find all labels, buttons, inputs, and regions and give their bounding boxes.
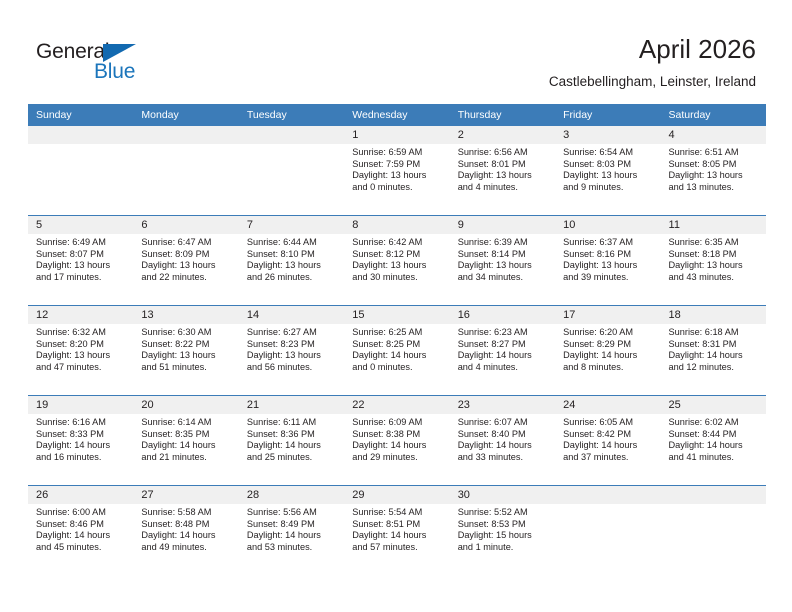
calendar-week-row: 19Sunrise: 6:16 AMSunset: 8:33 PMDayligh… — [28, 395, 766, 485]
sunrise-text: Sunrise: 6:00 AM — [36, 507, 125, 519]
daylight-text-line1: Daylight: 14 hours — [669, 440, 758, 452]
daylight-text-line1: Daylight: 15 hours — [458, 530, 547, 542]
daylight-text-line2: and 1 minute. — [458, 542, 547, 554]
sunrise-text: Sunrise: 6:20 AM — [563, 327, 652, 339]
calendar-weeks: 1Sunrise: 6:59 AMSunset: 7:59 PMDaylight… — [28, 126, 766, 575]
daylight-text-line2: and 0 minutes. — [352, 362, 441, 374]
calendar-week-row: 12Sunrise: 6:32 AMSunset: 8:20 PMDayligh… — [28, 305, 766, 395]
sunrise-text: Sunrise: 6:44 AM — [247, 237, 336, 249]
daylight-text-line1: Daylight: 14 hours — [563, 350, 652, 362]
sunrise-text: Sunrise: 6:32 AM — [36, 327, 125, 339]
sunset-text: Sunset: 8:38 PM — [352, 429, 441, 441]
calendar-day-cell[interactable]: 20Sunrise: 6:14 AMSunset: 8:35 PMDayligh… — [133, 396, 238, 485]
sunset-text: Sunset: 8:36 PM — [247, 429, 336, 441]
day-sun-info — [555, 504, 660, 575]
daylight-text-line1: Daylight: 13 hours — [36, 350, 125, 362]
day-sun-info: Sunrise: 6:42 AMSunset: 8:12 PMDaylight:… — [344, 234, 449, 305]
day-sun-info: Sunrise: 5:52 AMSunset: 8:53 PMDaylight:… — [450, 504, 555, 575]
calendar-week-cells: 5Sunrise: 6:49 AMSunset: 8:07 PMDaylight… — [28, 216, 766, 305]
day-number: 24 — [555, 396, 660, 414]
daylight-text-line2: and 29 minutes. — [352, 452, 441, 464]
calendar-day-cell[interactable]: 23Sunrise: 6:07 AMSunset: 8:40 PMDayligh… — [450, 396, 555, 485]
calendar-day-cell[interactable]: 15Sunrise: 6:25 AMSunset: 8:25 PMDayligh… — [344, 306, 449, 395]
calendar-week-row: 5Sunrise: 6:49 AMSunset: 8:07 PMDaylight… — [28, 215, 766, 305]
weekday-header-monday: Monday — [133, 104, 238, 126]
calendar-week-cells: 26Sunrise: 6:00 AMSunset: 8:46 PMDayligh… — [28, 486, 766, 575]
sunrise-text: Sunrise: 6:35 AM — [669, 237, 758, 249]
day-number: 19 — [28, 396, 133, 414]
day-number: 7 — [239, 216, 344, 234]
day-number: 15 — [344, 306, 449, 324]
daylight-text-line1: Daylight: 13 hours — [141, 350, 230, 362]
day-sun-info: Sunrise: 6:20 AMSunset: 8:29 PMDaylight:… — [555, 324, 660, 395]
general-blue-logo[interactable]: General Blue — [36, 40, 156, 84]
sunrise-text: Sunrise: 6:30 AM — [141, 327, 230, 339]
daylight-text-line1: Daylight: 13 hours — [247, 260, 336, 272]
sunrise-text: Sunrise: 5:54 AM — [352, 507, 441, 519]
daylight-text-line1: Daylight: 13 hours — [458, 170, 547, 182]
daylight-text-line2: and 49 minutes. — [141, 542, 230, 554]
sunrise-text: Sunrise: 6:54 AM — [563, 147, 652, 159]
daylight-text-line2: and 8 minutes. — [563, 362, 652, 374]
day-sun-info: Sunrise: 6:18 AMSunset: 8:31 PMDaylight:… — [661, 324, 766, 395]
day-number: 30 — [450, 486, 555, 504]
page-header: General Blue April 2026 Castlebellingham… — [0, 0, 792, 104]
day-sun-info: Sunrise: 6:07 AMSunset: 8:40 PMDaylight:… — [450, 414, 555, 485]
sunset-text: Sunset: 8:53 PM — [458, 519, 547, 531]
calendar-day-cell[interactable]: 16Sunrise: 6:23 AMSunset: 8:27 PMDayligh… — [450, 306, 555, 395]
day-number — [133, 126, 238, 144]
daylight-text-line2: and 34 minutes. — [458, 272, 547, 284]
day-number — [555, 486, 660, 504]
day-sun-info: Sunrise: 6:27 AMSunset: 8:23 PMDaylight:… — [239, 324, 344, 395]
day-number — [239, 126, 344, 144]
calendar-day-cell[interactable]: 19Sunrise: 6:16 AMSunset: 8:33 PMDayligh… — [28, 396, 133, 485]
sunset-text: Sunset: 8:29 PM — [563, 339, 652, 351]
sunrise-text: Sunrise: 6:47 AM — [141, 237, 230, 249]
daylight-text-line2: and 12 minutes. — [669, 362, 758, 374]
calendar-week-cells: 1Sunrise: 6:59 AMSunset: 7:59 PMDaylight… — [28, 126, 766, 215]
sunrise-text: Sunrise: 5:52 AM — [458, 507, 547, 519]
daylight-text-line1: Daylight: 13 hours — [563, 170, 652, 182]
sunrise-text: Sunrise: 6:37 AM — [563, 237, 652, 249]
calendar-day-cell[interactable]: 3Sunrise: 6:54 AMSunset: 8:03 PMDaylight… — [555, 126, 660, 215]
calendar-day-cell-empty — [661, 486, 766, 575]
daylight-text-line1: Daylight: 14 hours — [141, 530, 230, 542]
day-number: 1 — [344, 126, 449, 144]
sunrise-text: Sunrise: 5:58 AM — [141, 507, 230, 519]
daylight-text-line2: and 30 minutes. — [352, 272, 441, 284]
calendar-day-cell[interactable]: 6Sunrise: 6:47 AMSunset: 8:09 PMDaylight… — [133, 216, 238, 305]
day-sun-info — [661, 504, 766, 575]
sunset-text: Sunset: 8:25 PM — [352, 339, 441, 351]
calendar-page: General Blue April 2026 Castlebellingham… — [0, 0, 792, 612]
day-sun-info: Sunrise: 6:11 AMSunset: 8:36 PMDaylight:… — [239, 414, 344, 485]
daylight-text-line1: Daylight: 14 hours — [352, 350, 441, 362]
day-sun-info: Sunrise: 5:54 AMSunset: 8:51 PMDaylight:… — [344, 504, 449, 575]
daylight-text-line2: and 4 minutes. — [458, 182, 547, 194]
calendar-day-cell[interactable]: 12Sunrise: 6:32 AMSunset: 8:20 PMDayligh… — [28, 306, 133, 395]
day-number: 27 — [133, 486, 238, 504]
calendar-day-cell[interactable]: 1Sunrise: 6:59 AMSunset: 7:59 PMDaylight… — [344, 126, 449, 215]
day-sun-info: Sunrise: 6:16 AMSunset: 8:33 PMDaylight:… — [28, 414, 133, 485]
sunset-text: Sunset: 8:48 PM — [141, 519, 230, 531]
weekday-header-thursday: Thursday — [450, 104, 555, 126]
sunrise-text: Sunrise: 6:11 AM — [247, 417, 336, 429]
day-sun-info: Sunrise: 6:37 AMSunset: 8:16 PMDaylight:… — [555, 234, 660, 305]
daylight-text-line2: and 26 minutes. — [247, 272, 336, 284]
daylight-text-line1: Daylight: 13 hours — [669, 260, 758, 272]
day-sun-info — [239, 144, 344, 215]
day-sun-info: Sunrise: 6:51 AMSunset: 8:05 PMDaylight:… — [661, 144, 766, 215]
sunset-text: Sunset: 8:03 PM — [563, 159, 652, 171]
sunset-text: Sunset: 8:14 PM — [458, 249, 547, 261]
day-number: 21 — [239, 396, 344, 414]
sunset-text: Sunset: 8:09 PM — [141, 249, 230, 261]
sunset-text: Sunset: 8:18 PM — [669, 249, 758, 261]
day-sun-info — [28, 144, 133, 215]
sunrise-text: Sunrise: 6:14 AM — [141, 417, 230, 429]
calendar-day-cell[interactable]: 11Sunrise: 6:35 AMSunset: 8:18 PMDayligh… — [661, 216, 766, 305]
day-number: 6 — [133, 216, 238, 234]
sunrise-text: Sunrise: 6:09 AM — [352, 417, 441, 429]
weekday-header-saturday: Saturday — [661, 104, 766, 126]
daylight-text-line1: Daylight: 14 hours — [458, 350, 547, 362]
daylight-text-line2: and 21 minutes. — [141, 452, 230, 464]
daylight-text-line1: Daylight: 14 hours — [247, 530, 336, 542]
day-sun-info: Sunrise: 6:23 AMSunset: 8:27 PMDaylight:… — [450, 324, 555, 395]
sunset-text: Sunset: 8:10 PM — [247, 249, 336, 261]
sunrise-text: Sunrise: 6:05 AM — [563, 417, 652, 429]
day-number: 3 — [555, 126, 660, 144]
day-number: 2 — [450, 126, 555, 144]
calendar-day-cell[interactable]: 7Sunrise: 6:44 AMSunset: 8:10 PMDaylight… — [239, 216, 344, 305]
daylight-text-line2: and 53 minutes. — [247, 542, 336, 554]
day-number: 29 — [344, 486, 449, 504]
day-number: 23 — [450, 396, 555, 414]
day-number: 9 — [450, 216, 555, 234]
calendar-day-cell[interactable]: 30Sunrise: 5:52 AMSunset: 8:53 PMDayligh… — [450, 486, 555, 575]
calendar-day-cell[interactable]: 28Sunrise: 5:56 AMSunset: 8:49 PMDayligh… — [239, 486, 344, 575]
day-number: 8 — [344, 216, 449, 234]
day-number — [28, 126, 133, 144]
day-sun-info: Sunrise: 6:09 AMSunset: 8:38 PMDaylight:… — [344, 414, 449, 485]
calendar-week-cells: 12Sunrise: 6:32 AMSunset: 8:20 PMDayligh… — [28, 306, 766, 395]
daylight-text-line2: and 9 minutes. — [563, 182, 652, 194]
calendar-day-cell[interactable]: 4Sunrise: 6:51 AMSunset: 8:05 PMDaylight… — [661, 126, 766, 215]
sunrise-text: Sunrise: 6:51 AM — [669, 147, 758, 159]
daylight-text-line1: Daylight: 13 hours — [141, 260, 230, 272]
day-sun-info: Sunrise: 6:54 AMSunset: 8:03 PMDaylight:… — [555, 144, 660, 215]
daylight-text-line2: and 37 minutes. — [563, 452, 652, 464]
calendar-day-cell[interactable]: 8Sunrise: 6:42 AMSunset: 8:12 PMDaylight… — [344, 216, 449, 305]
sunrise-text: Sunrise: 6:59 AM — [352, 147, 441, 159]
daylight-text-line2: and 45 minutes. — [36, 542, 125, 554]
daylight-text-line1: Daylight: 14 hours — [247, 440, 336, 452]
calendar-day-cell[interactable]: 17Sunrise: 6:20 AMSunset: 8:29 PMDayligh… — [555, 306, 660, 395]
day-number — [661, 486, 766, 504]
daylight-text-line2: and 41 minutes. — [669, 452, 758, 464]
calendar-day-cell-empty — [133, 126, 238, 215]
calendar-day-cell[interactable]: 24Sunrise: 6:05 AMSunset: 8:42 PMDayligh… — [555, 396, 660, 485]
sunset-text: Sunset: 8:33 PM — [36, 429, 125, 441]
calendar-day-cell[interactable]: 27Sunrise: 5:58 AMSunset: 8:48 PMDayligh… — [133, 486, 238, 575]
sunset-text: Sunset: 8:16 PM — [563, 249, 652, 261]
daylight-text-line2: and 4 minutes. — [458, 362, 547, 374]
sunrise-text: Sunrise: 6:39 AM — [458, 237, 547, 249]
sunset-text: Sunset: 8:42 PM — [563, 429, 652, 441]
calendar-day-cell[interactable]: 5Sunrise: 6:49 AMSunset: 8:07 PMDaylight… — [28, 216, 133, 305]
calendar-day-cell[interactable]: 22Sunrise: 6:09 AMSunset: 8:38 PMDayligh… — [344, 396, 449, 485]
day-number: 4 — [661, 126, 766, 144]
daylight-text-line1: Daylight: 13 hours — [458, 260, 547, 272]
daylight-text-line1: Daylight: 13 hours — [352, 170, 441, 182]
daylight-text-line1: Daylight: 14 hours — [669, 350, 758, 362]
day-number: 14 — [239, 306, 344, 324]
sunrise-text: Sunrise: 6:56 AM — [458, 147, 547, 159]
day-number: 11 — [661, 216, 766, 234]
day-sun-info: Sunrise: 6:56 AMSunset: 8:01 PMDaylight:… — [450, 144, 555, 215]
sunset-text: Sunset: 8:01 PM — [458, 159, 547, 171]
calendar-day-cell[interactable]: 2Sunrise: 6:56 AMSunset: 8:01 PMDaylight… — [450, 126, 555, 215]
calendar-day-cell[interactable]: 18Sunrise: 6:18 AMSunset: 8:31 PMDayligh… — [661, 306, 766, 395]
day-number: 16 — [450, 306, 555, 324]
daylight-text-line2: and 56 minutes. — [247, 362, 336, 374]
day-sun-info: Sunrise: 6:30 AMSunset: 8:22 PMDaylight:… — [133, 324, 238, 395]
sunrise-text: Sunrise: 6:42 AM — [352, 237, 441, 249]
calendar-day-cell[interactable]: 25Sunrise: 6:02 AMSunset: 8:44 PMDayligh… — [661, 396, 766, 485]
day-sun-info — [133, 144, 238, 215]
day-sun-info: Sunrise: 6:14 AMSunset: 8:35 PMDaylight:… — [133, 414, 238, 485]
day-sun-info: Sunrise: 6:49 AMSunset: 8:07 PMDaylight:… — [28, 234, 133, 305]
calendar-week-row: 1Sunrise: 6:59 AMSunset: 7:59 PMDaylight… — [28, 126, 766, 215]
sunset-text: Sunset: 8:27 PM — [458, 339, 547, 351]
calendar-day-cell[interactable]: 26Sunrise: 6:00 AMSunset: 8:46 PMDayligh… — [28, 486, 133, 575]
daylight-text-line1: Daylight: 14 hours — [563, 440, 652, 452]
day-sun-info: Sunrise: 6:00 AMSunset: 8:46 PMDaylight:… — [28, 504, 133, 575]
calendar-day-cell[interactable]: 9Sunrise: 6:39 AMSunset: 8:14 PMDaylight… — [450, 216, 555, 305]
day-sun-info: Sunrise: 6:39 AMSunset: 8:14 PMDaylight:… — [450, 234, 555, 305]
day-number: 26 — [28, 486, 133, 504]
sunset-text: Sunset: 8:49 PM — [247, 519, 336, 531]
sunset-text: Sunset: 8:07 PM — [36, 249, 125, 261]
daylight-text-line1: Daylight: 14 hours — [352, 530, 441, 542]
day-sun-info: Sunrise: 6:44 AMSunset: 8:10 PMDaylight:… — [239, 234, 344, 305]
daylight-text-line1: Daylight: 13 hours — [247, 350, 336, 362]
calendar-week-row: 26Sunrise: 6:00 AMSunset: 8:46 PMDayligh… — [28, 485, 766, 575]
calendar-day-cell[interactable]: 10Sunrise: 6:37 AMSunset: 8:16 PMDayligh… — [555, 216, 660, 305]
sunrise-text: Sunrise: 6:18 AM — [669, 327, 758, 339]
day-sun-info: Sunrise: 6:47 AMSunset: 8:09 PMDaylight:… — [133, 234, 238, 305]
calendar-day-cell[interactable]: 13Sunrise: 6:30 AMSunset: 8:22 PMDayligh… — [133, 306, 238, 395]
daylight-text-line2: and 33 minutes. — [458, 452, 547, 464]
daylight-text-line1: Daylight: 14 hours — [36, 530, 125, 542]
sunset-text: Sunset: 8:12 PM — [352, 249, 441, 261]
sunset-text: Sunset: 8:40 PM — [458, 429, 547, 441]
sunrise-text: Sunrise: 6:23 AM — [458, 327, 547, 339]
day-sun-info: Sunrise: 6:02 AMSunset: 8:44 PMDaylight:… — [661, 414, 766, 485]
daylight-text-line1: Daylight: 14 hours — [352, 440, 441, 452]
daylight-text-line2: and 47 minutes. — [36, 362, 125, 374]
day-sun-info: Sunrise: 5:58 AMSunset: 8:48 PMDaylight:… — [133, 504, 238, 575]
day-sun-info: Sunrise: 6:35 AMSunset: 8:18 PMDaylight:… — [661, 234, 766, 305]
day-number: 17 — [555, 306, 660, 324]
sunset-text: Sunset: 8:22 PM — [141, 339, 230, 351]
daylight-text-line2: and 13 minutes. — [669, 182, 758, 194]
day-number: 20 — [133, 396, 238, 414]
day-number: 13 — [133, 306, 238, 324]
daylight-text-line2: and 57 minutes. — [352, 542, 441, 554]
calendar-day-cell-empty — [28, 126, 133, 215]
sunrise-text: Sunrise: 6:25 AM — [352, 327, 441, 339]
sunrise-text: Sunrise: 6:49 AM — [36, 237, 125, 249]
page-subtitle-location: Castlebellingham, Leinster, Ireland — [549, 74, 756, 89]
calendar-day-cell-empty — [555, 486, 660, 575]
daylight-text-line1: Daylight: 14 hours — [36, 440, 125, 452]
day-number: 22 — [344, 396, 449, 414]
day-number: 28 — [239, 486, 344, 504]
sunset-text: Sunset: 8:46 PM — [36, 519, 125, 531]
sunset-text: Sunset: 8:35 PM — [141, 429, 230, 441]
sunset-text: Sunset: 8:05 PM — [669, 159, 758, 171]
day-sun-info: Sunrise: 5:56 AMSunset: 8:49 PMDaylight:… — [239, 504, 344, 575]
sunrise-text: Sunrise: 6:27 AM — [247, 327, 336, 339]
daylight-text-line1: Daylight: 14 hours — [141, 440, 230, 452]
day-number: 10 — [555, 216, 660, 234]
daylight-text-line1: Daylight: 13 hours — [352, 260, 441, 272]
sunset-text: Sunset: 8:23 PM — [247, 339, 336, 351]
daylight-text-line2: and 0 minutes. — [352, 182, 441, 194]
logo-text-blue: Blue — [94, 60, 135, 84]
calendar-day-cell-empty — [239, 126, 344, 215]
day-number: 12 — [28, 306, 133, 324]
sunrise-text: Sunrise: 6:16 AM — [36, 417, 125, 429]
sunrise-text: Sunrise: 5:56 AM — [247, 507, 336, 519]
calendar-day-cell[interactable]: 29Sunrise: 5:54 AMSunset: 8:51 PMDayligh… — [344, 486, 449, 575]
weekday-header-tuesday: Tuesday — [239, 104, 344, 126]
daylight-text-line2: and 25 minutes. — [247, 452, 336, 464]
sunset-text: Sunset: 8:51 PM — [352, 519, 441, 531]
day-sun-info: Sunrise: 6:25 AMSunset: 8:25 PMDaylight:… — [344, 324, 449, 395]
daylight-text-line2: and 43 minutes. — [669, 272, 758, 284]
day-number: 25 — [661, 396, 766, 414]
day-number: 18 — [661, 306, 766, 324]
daylight-text-line2: and 51 minutes. — [141, 362, 230, 374]
daylight-text-line1: Daylight: 13 hours — [563, 260, 652, 272]
sunset-text: Sunset: 8:31 PM — [669, 339, 758, 351]
calendar-day-cell[interactable]: 14Sunrise: 6:27 AMSunset: 8:23 PMDayligh… — [239, 306, 344, 395]
sunrise-text: Sunrise: 6:02 AM — [669, 417, 758, 429]
daylight-text-line2: and 22 minutes. — [141, 272, 230, 284]
calendar-week-cells: 19Sunrise: 6:16 AMSunset: 8:33 PMDayligh… — [28, 396, 766, 485]
day-sun-info: Sunrise: 6:05 AMSunset: 8:42 PMDaylight:… — [555, 414, 660, 485]
sunset-text: Sunset: 8:20 PM — [36, 339, 125, 351]
day-sun-info: Sunrise: 6:59 AMSunset: 7:59 PMDaylight:… — [344, 144, 449, 215]
day-number: 5 — [28, 216, 133, 234]
weekday-header-sunday: Sunday — [28, 104, 133, 126]
daylight-text-line2: and 16 minutes. — [36, 452, 125, 464]
weekday-header-friday: Friday — [555, 104, 660, 126]
daylight-text-line1: Daylight: 13 hours — [669, 170, 758, 182]
daylight-text-line1: Daylight: 13 hours — [36, 260, 125, 272]
calendar-grid: Sunday Monday Tuesday Wednesday Thursday… — [28, 104, 766, 575]
weekday-header-wednesday: Wednesday — [344, 104, 449, 126]
calendar-day-cell[interactable]: 21Sunrise: 6:11 AMSunset: 8:36 PMDayligh… — [239, 396, 344, 485]
sunset-text: Sunset: 7:59 PM — [352, 159, 441, 171]
sunset-text: Sunset: 8:44 PM — [669, 429, 758, 441]
daylight-text-line1: Daylight: 14 hours — [458, 440, 547, 452]
daylight-text-line2: and 39 minutes. — [563, 272, 652, 284]
sunrise-text: Sunrise: 6:07 AM — [458, 417, 547, 429]
daylight-text-line2: and 17 minutes. — [36, 272, 125, 284]
page-title: April 2026 — [639, 34, 756, 65]
weekday-header-row: Sunday Monday Tuesday Wednesday Thursday… — [28, 104, 766, 126]
day-sun-info: Sunrise: 6:32 AMSunset: 8:20 PMDaylight:… — [28, 324, 133, 395]
